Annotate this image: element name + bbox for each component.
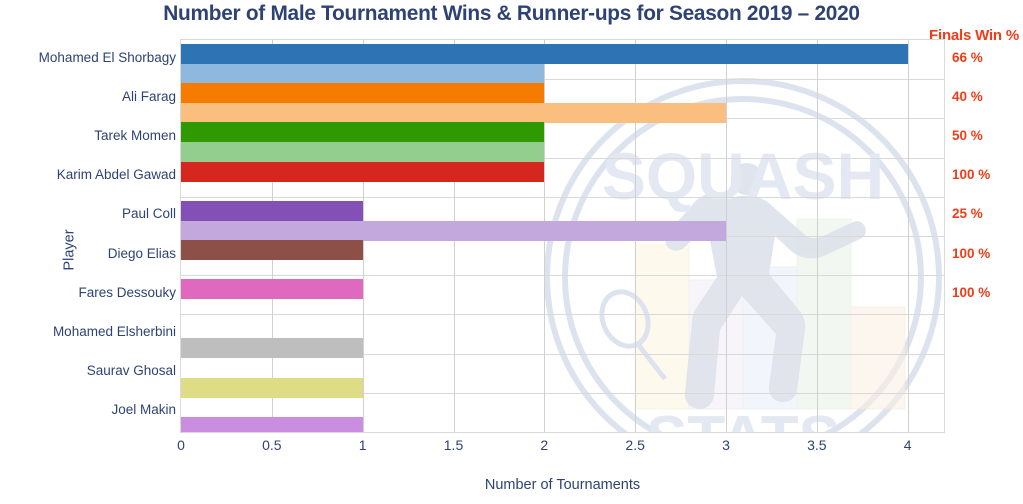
- finals-win-percent-value-3: 50 %: [952, 128, 1018, 143]
- bar-runnerups[interactable]: [181, 221, 726, 241]
- bar-wins[interactable]: [181, 201, 363, 221]
- bar-runnerups[interactable]: [181, 338, 363, 358]
- gridline-horizontal: [181, 275, 944, 276]
- y-tick-label-3: Tarek Momen: [2, 128, 180, 143]
- bar-chart-figure: Number of Male Tournament Wins & Runner-…: [0, 0, 1023, 504]
- gridline-horizontal: [181, 314, 944, 315]
- bar-wins[interactable]: [181, 240, 363, 260]
- x-tick-label-2: 1: [359, 437, 367, 453]
- y-tick-label-8: Mohamed Elsherbini: [2, 324, 180, 339]
- y-tick-label-1: Mohamed El Shorbagy: [2, 50, 180, 65]
- bar-runnerups[interactable]: [181, 64, 544, 84]
- y-tick-label-4: Karim Abdel Gawad: [2, 167, 180, 182]
- finals-win-percent-value-2: 40 %: [952, 89, 1018, 104]
- y-tick-label-7: Fares Dessouky: [2, 285, 180, 300]
- x-axis-tick-labels: 00.511.522.533.54: [180, 437, 945, 459]
- finals-win-percent-column: 66 %40 %50 %100 %25 %100 %100 %: [952, 39, 1023, 433]
- x-tick-label-0: 0: [177, 437, 185, 453]
- bar-runnerups[interactable]: [181, 103, 726, 123]
- x-tick-label-1: 0.5: [262, 437, 281, 453]
- bar-runnerups[interactable]: [181, 417, 363, 433]
- bar-wins[interactable]: [181, 44, 908, 64]
- y-tick-label-10: Joel Makin: [2, 402, 180, 417]
- x-tick-label-3: 1.5: [444, 437, 463, 453]
- page-title: Number of Male Tournament Wins & Runner-…: [15, 1, 1007, 26]
- watermark-line2: STATS: [646, 404, 840, 433]
- y-tick-label-2: Ali Farag: [2, 89, 180, 104]
- gridline-vertical: [817, 40, 818, 432]
- bar-wins[interactable]: [181, 122, 544, 142]
- gridline-vertical: [908, 40, 909, 432]
- bar-wins[interactable]: [181, 162, 544, 182]
- y-tick-label-9: Saurav Ghosal: [2, 363, 180, 378]
- bar-runnerups[interactable]: [181, 142, 544, 162]
- finals-win-percent-value-6: 100 %: [952, 246, 1018, 261]
- x-axis-title: Number of Tournaments: [180, 477, 945, 493]
- bar-runnerups[interactable]: [181, 378, 363, 398]
- x-tick-label-5: 2.5: [625, 437, 644, 453]
- x-tick-label-8: 4: [904, 437, 912, 453]
- bar-wins[interactable]: [181, 83, 544, 103]
- watermark-line1: SQUASH: [602, 139, 884, 213]
- plot-area: SQUASH STATS: [180, 39, 945, 433]
- finals-win-percent-value-5: 25 %: [952, 206, 1018, 221]
- finals-win-percent-value-7: 100 %: [952, 285, 1018, 300]
- x-tick-label-7: 3.5: [807, 437, 826, 453]
- y-axis-tick-labels: Mohamed El ShorbagyAli FaragTarek MomenK…: [0, 39, 180, 433]
- y-tick-label-6: Diego Elias: [2, 246, 180, 261]
- finals-win-percent-value-1: 66 %: [952, 50, 1018, 65]
- gridline-vertical: [726, 40, 727, 432]
- gridline-horizontal: [181, 197, 944, 198]
- finals-win-percent-value-4: 100 %: [952, 167, 1018, 182]
- x-tick-label-4: 2: [540, 437, 548, 453]
- x-tick-label-6: 3: [722, 437, 730, 453]
- y-tick-label-5: Paul Coll: [2, 206, 180, 221]
- bar-wins[interactable]: [181, 279, 363, 299]
